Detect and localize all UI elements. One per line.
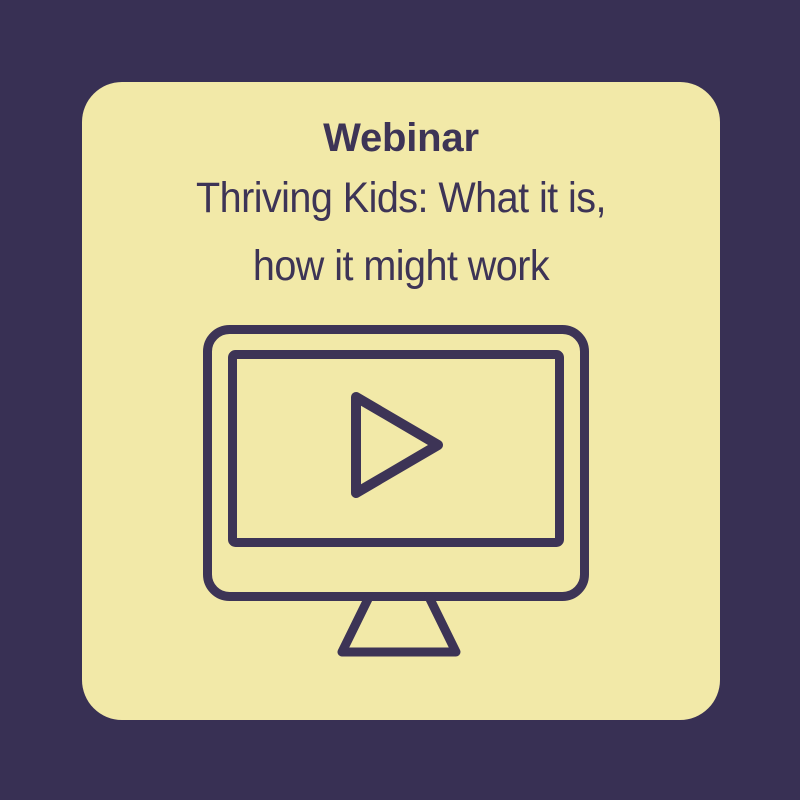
card-eyebrow-label: Webinar [82,112,720,164]
promo-card-canvas: Webinar Thriving Kids: What it is, how i… [0,0,800,800]
webinar-promo-card[interactable]: Webinar Thriving Kids: What it is, how i… [82,82,720,720]
monitor-outer-frame [208,330,585,597]
card-icon-area [82,320,720,680]
card-title-line-1: Thriving Kids: What it is, [108,164,695,232]
monitor-stand [342,597,456,652]
card-text-block: Webinar Thriving Kids: What it is, how i… [82,112,720,300]
desktop-monitor-play-video-icon [191,320,611,680]
play-triangle-icon [356,397,438,493]
monitor-inner-screen [233,355,560,543]
card-title-line-2: how it might work [108,232,695,300]
card-title: Thriving Kids: What it is, how it might … [108,164,695,300]
